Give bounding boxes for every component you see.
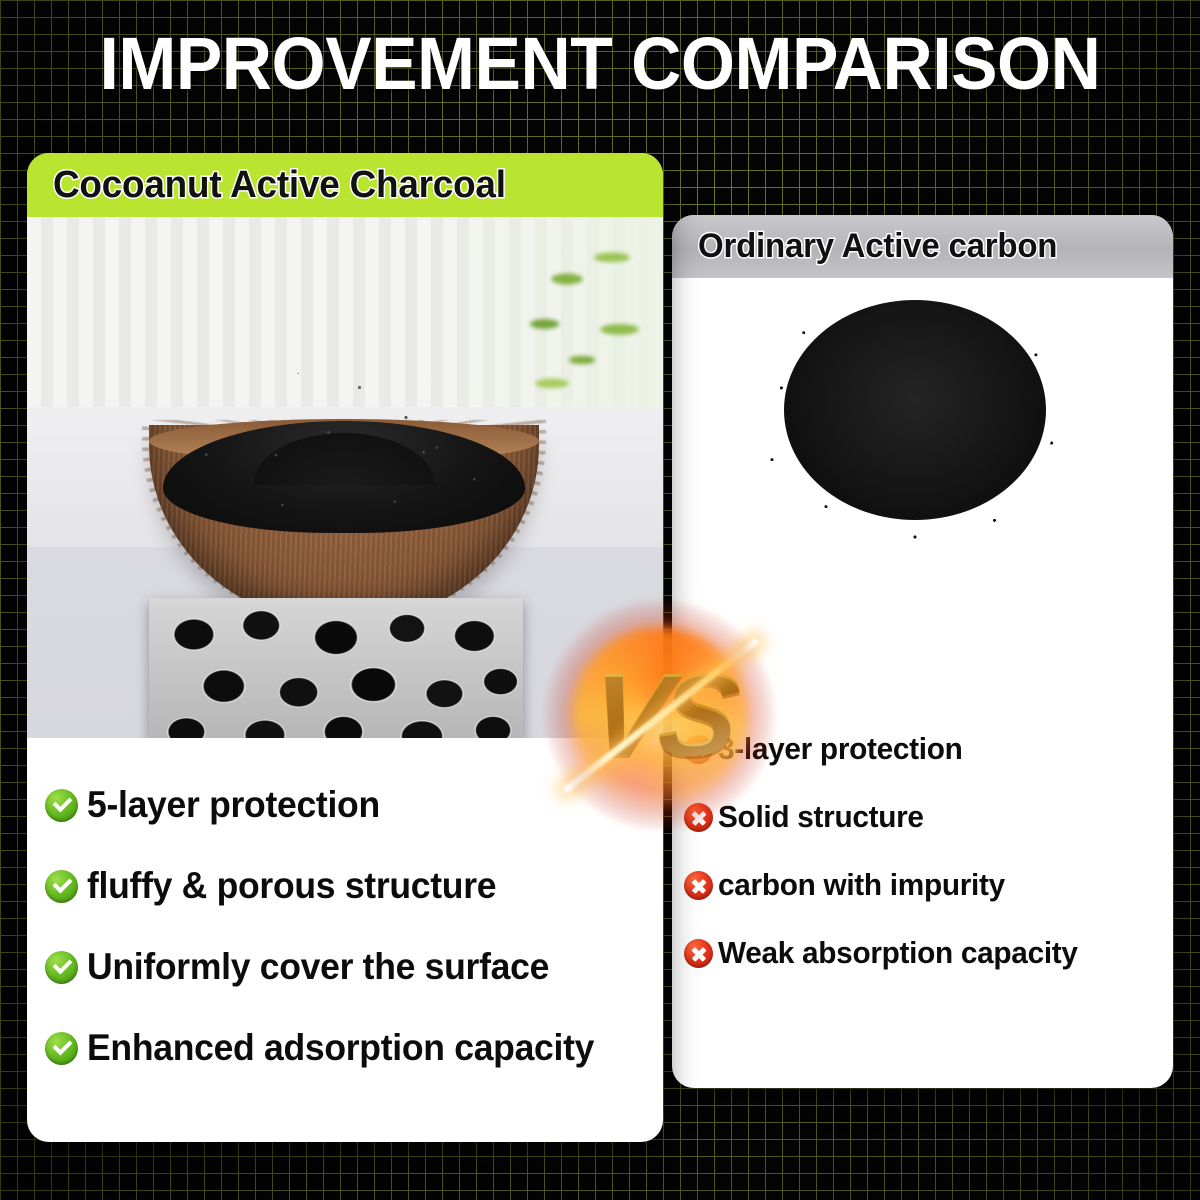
list-item: Solid structure <box>684 799 1173 835</box>
check-icon <box>45 1032 78 1065</box>
cross-icon <box>684 939 713 968</box>
cocoanut-charcoal-card: Cocoanut Active Charcoal 5-layer protect… <box>27 153 663 1142</box>
page-title: IMPROVEMENT COMPARISON <box>36 24 1164 104</box>
cocoanut-charcoal-title: Cocoanut Active Charcoal <box>53 164 506 207</box>
ordinary-carbon-header: Ordinary Active carbon <box>672 215 1173 278</box>
carbon-granules-photo <box>784 300 1046 520</box>
list-item-label: 3-layer protection <box>718 731 963 767</box>
charcoal-mound <box>189 335 499 485</box>
list-item: 5-layer protection <box>45 784 663 826</box>
list-item: fluffy & porous structure <box>45 865 663 907</box>
cocoanut-charcoal-micrograph-image <box>149 598 523 738</box>
cross-icon <box>684 803 713 832</box>
list-item-label: Solid structure <box>718 799 924 835</box>
list-item-label: Enhanced adsorption capacity <box>87 1027 594 1069</box>
ordinary-carbon-title: Ordinary Active carbon <box>698 227 1057 266</box>
list-item: Enhanced adsorption capacity <box>45 1027 663 1069</box>
ordinary-carbon-feature-list: 3-layer protection Solid structure carbo… <box>684 731 1173 971</box>
list-item-label: carbon with impurity <box>718 867 1005 903</box>
list-item-label: fluffy & porous structure <box>87 865 496 907</box>
list-item: 3-layer protection <box>684 731 1173 767</box>
cocoanut-charcoal-feature-list: 5-layer protection fluffy & porous struc… <box>45 784 663 1069</box>
check-icon <box>45 951 78 984</box>
ordinary-carbon-media <box>672 278 1173 705</box>
list-item-label: 5-layer protection <box>87 784 380 826</box>
list-item: Weak absorption capacity <box>684 935 1173 971</box>
cocoanut-charcoal-header: Cocoanut Active Charcoal <box>27 153 663 217</box>
check-icon <box>45 789 78 822</box>
check-icon <box>45 870 78 903</box>
list-item: Uniformly cover the surface <box>45 946 663 988</box>
list-item-label: Weak absorption capacity <box>718 935 1078 971</box>
cocoanut-charcoal-media <box>27 217 663 738</box>
list-item: carbon with impurity <box>684 867 1173 903</box>
cross-icon <box>684 735 713 764</box>
list-item-label: Uniformly cover the surface <box>87 946 549 988</box>
ordinary-carbon-card: Ordinary Active carbon 3-layer protectio… <box>672 215 1173 1088</box>
coconut-bowl-photo <box>149 335 539 625</box>
cross-icon <box>684 871 713 900</box>
